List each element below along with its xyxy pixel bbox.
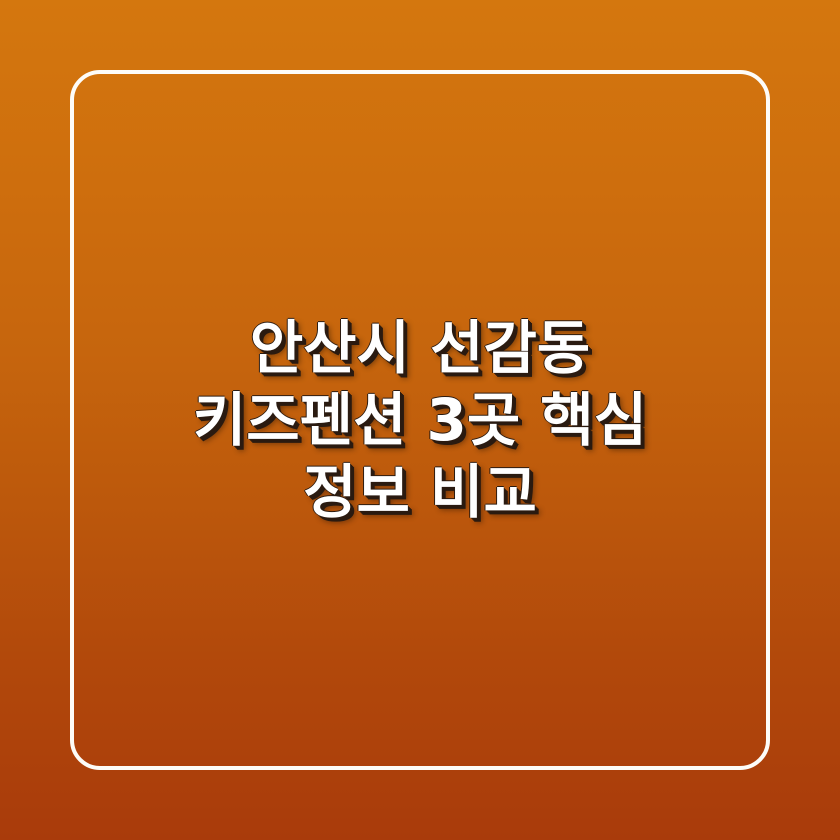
- headline-line-2: 키즈펜션 3곳 핵심: [110, 384, 730, 456]
- headline-block: 안산시 선감동 키즈펜션 3곳 핵심 정보 비교: [0, 0, 840, 840]
- thumbnail-canvas: 안산시 선감동 키즈펜션 3곳 핵심 정보 비교: [0, 0, 840, 840]
- headline-line-3: 정보 비교: [110, 456, 730, 528]
- headline-line-1: 안산시 선감동: [110, 312, 730, 384]
